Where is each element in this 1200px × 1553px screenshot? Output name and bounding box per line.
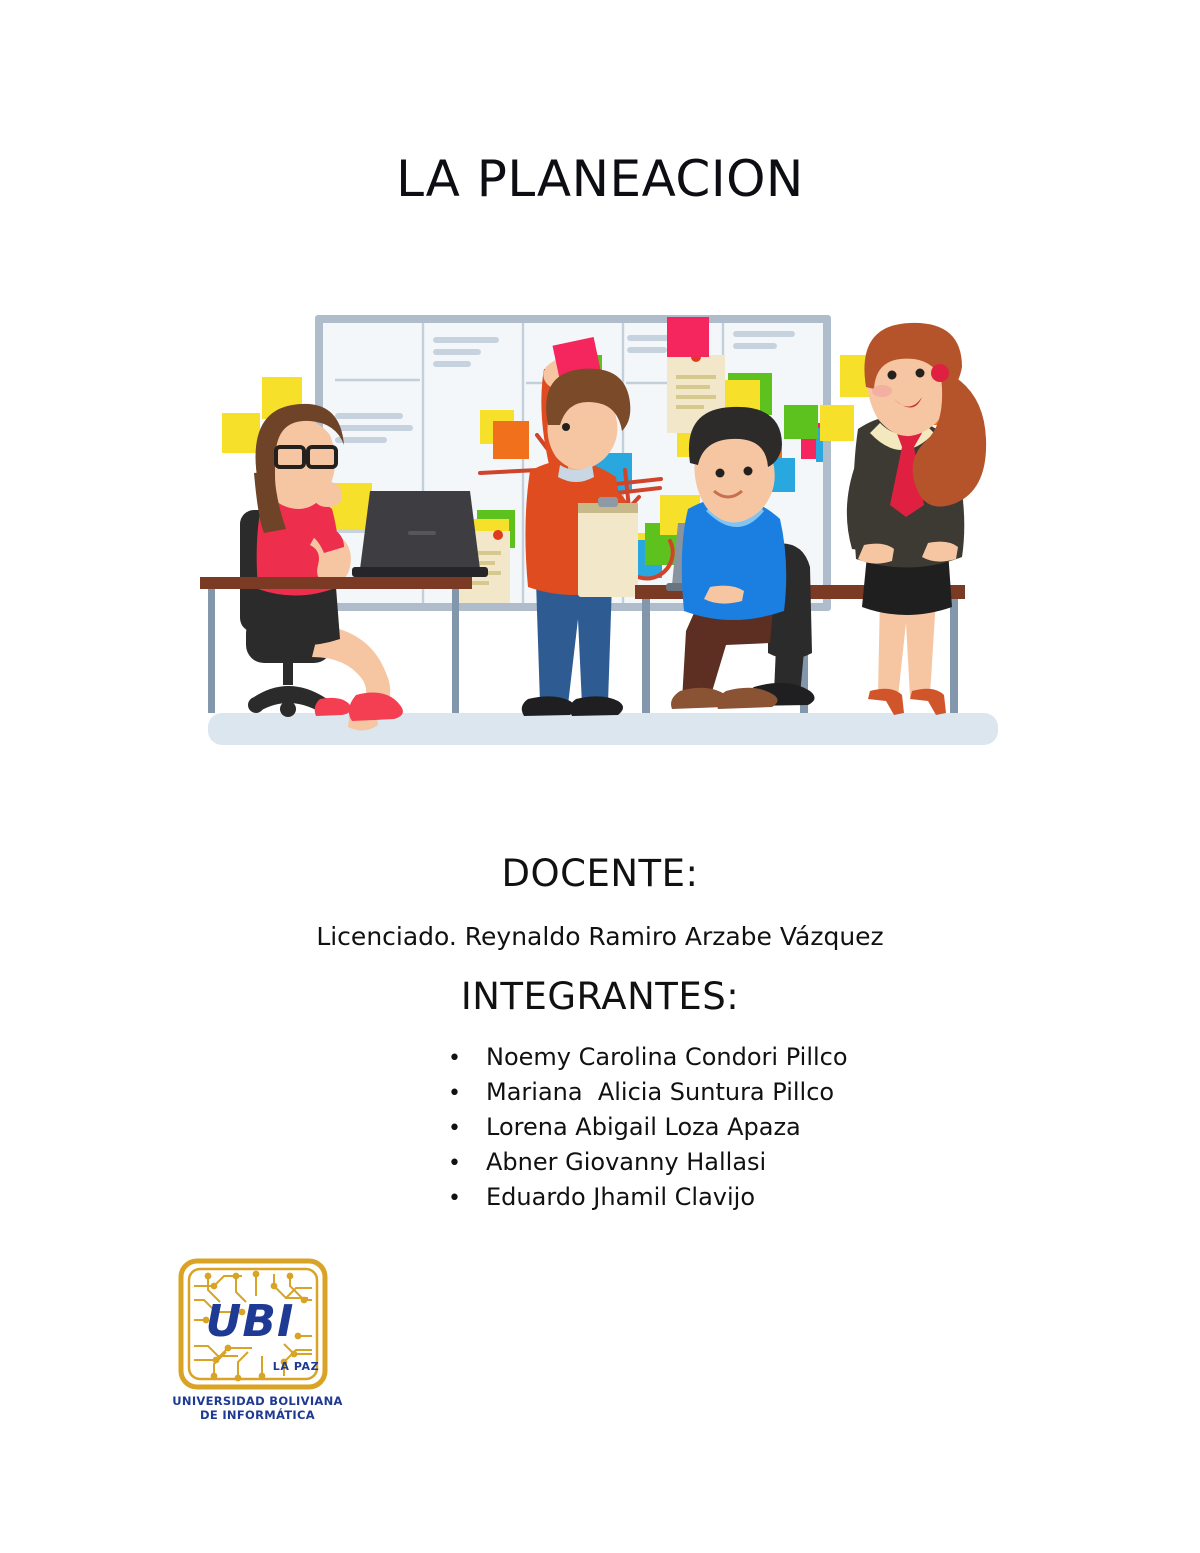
red-shoe-2	[315, 698, 351, 716]
floor-shadow	[208, 713, 998, 745]
ubi-monogram-text: UBI	[206, 1296, 295, 1347]
list-item: • Mariana Alicia Suntura Pillco	[448, 1078, 848, 1113]
red-shoe-1	[349, 693, 403, 721]
logo-caption: UNIVERSIDAD BOLIVIANA DE INFORMÁTICA	[170, 1394, 345, 1422]
logo-caption-line-1: UNIVERSIDAD BOLIVIANA	[170, 1394, 345, 1408]
member-name: Noemy Carolina Condori Pillco	[486, 1043, 848, 1071]
list-item: • Lorena Abigail Loza Apaza	[448, 1113, 848, 1148]
list-item: • Eduardo Jhamil Clavijo	[448, 1183, 848, 1218]
man-shoes	[522, 696, 623, 716]
teamwork-illustration-svg	[180, 295, 1020, 765]
member-name: Abner Giovanny Hallasi	[486, 1148, 766, 1176]
hair-tie	[931, 364, 949, 382]
member-name: Eduardo Jhamil Clavijo	[486, 1183, 755, 1211]
clipboard	[578, 497, 638, 597]
bullet-icon: •	[448, 1118, 486, 1140]
bullet-icon: •	[448, 1188, 486, 1210]
bullet-icon: •	[448, 1083, 486, 1105]
ubi-logo-icon: UBI LA PAZ	[178, 1258, 328, 1390]
man-blue-shoes	[671, 688, 778, 709]
docente-name: Licenciado. Reynaldo Ramiro Arzabe Vázqu…	[0, 922, 1200, 951]
member-name: Mariana Alicia Suntura Pillco	[486, 1078, 834, 1106]
integrantes-heading: INTEGRANTES:	[0, 975, 1200, 1018]
logo-caption-line-2: DE INFORMÁTICA	[170, 1408, 345, 1422]
bullet-icon: •	[448, 1153, 486, 1175]
teamwork-illustration	[180, 295, 1020, 765]
bullet-icon: •	[448, 1048, 486, 1070]
woman2-heels	[868, 689, 946, 715]
page-title: LA PLANEACION	[0, 150, 1200, 208]
university-logo: UBI LA PAZ UNIVERSIDAD BOLIVIANA DE INFO…	[170, 1258, 345, 1438]
document-page: LA PLANEACION	[0, 0, 1200, 1553]
docente-heading: DOCENTE:	[0, 852, 1200, 895]
member-name: Lorena Abigail Loza Apaza	[486, 1113, 801, 1141]
members-list: • Noemy Carolina Condori Pillco • Marian…	[448, 1043, 848, 1218]
la-paz-text: LA PAZ	[273, 1360, 320, 1373]
person-standing-woman-ponytail	[847, 323, 986, 715]
list-item: • Abner Giovanny Hallasi	[448, 1148, 848, 1183]
laptop-left	[352, 491, 488, 577]
list-item: • Noemy Carolina Condori Pillco	[448, 1043, 848, 1078]
